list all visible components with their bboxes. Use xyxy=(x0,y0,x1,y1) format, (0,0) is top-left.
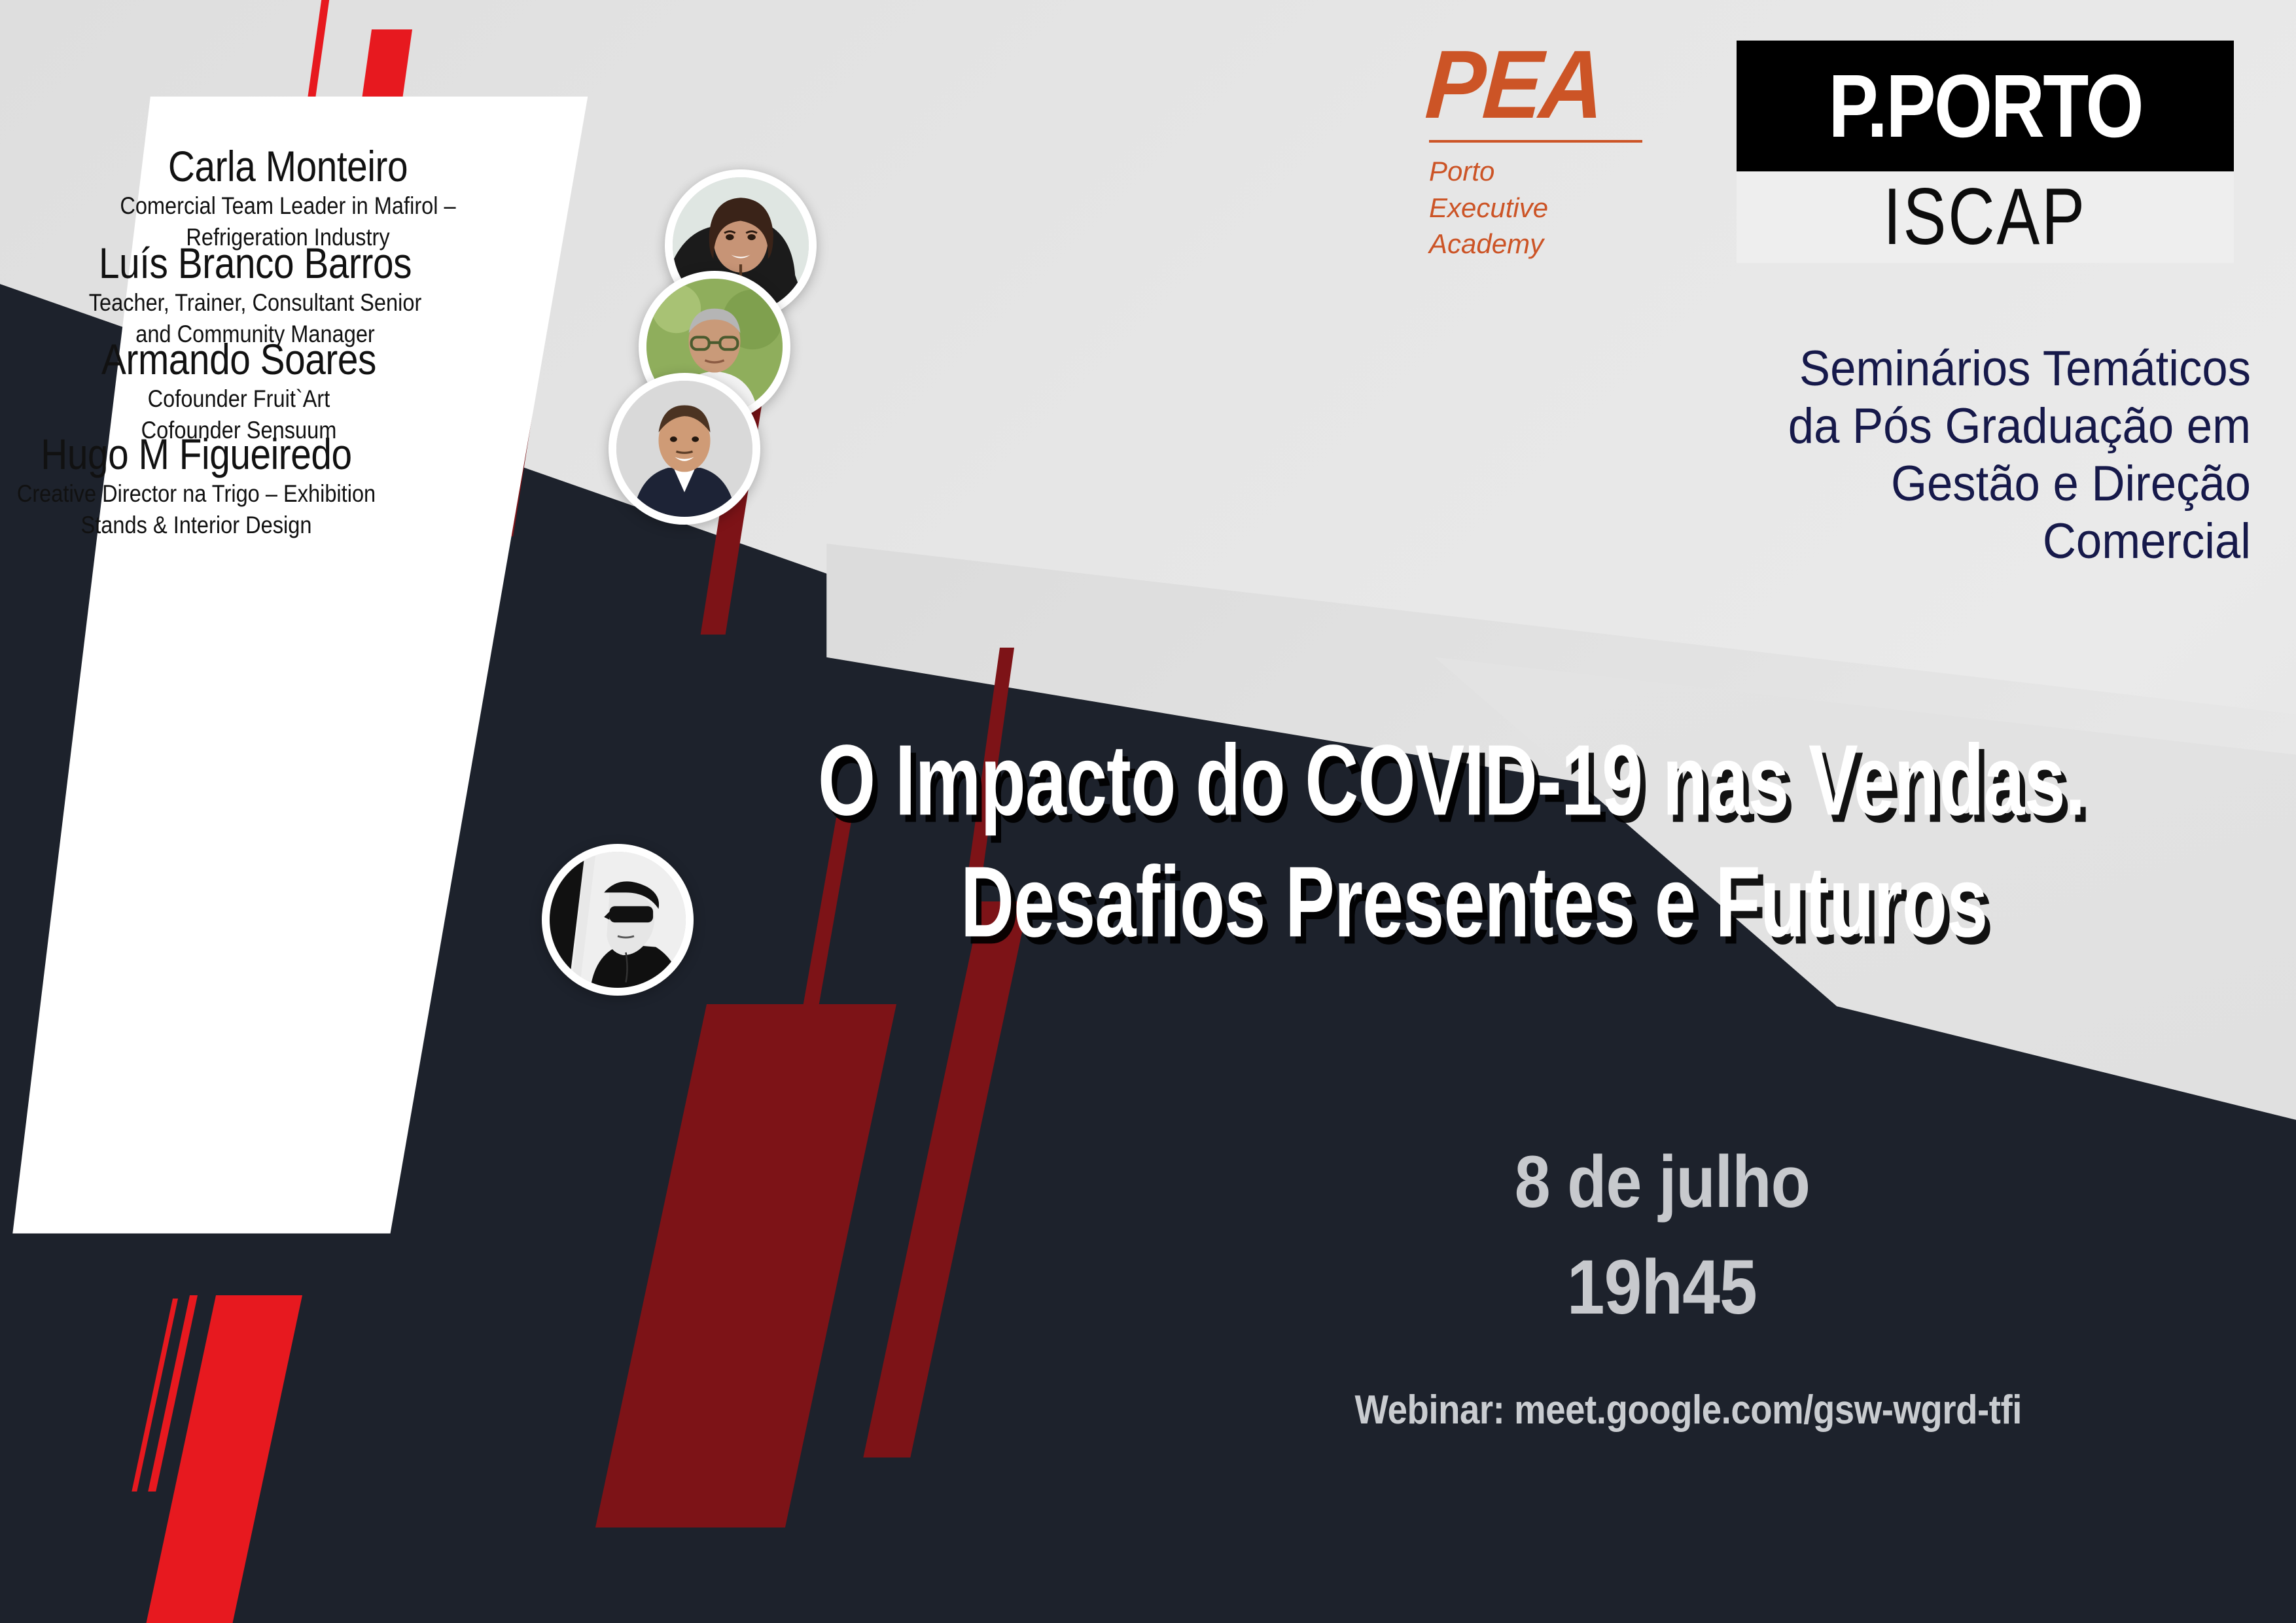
pea-acronym: PEA xyxy=(1423,41,1664,130)
speaker-role-line-1: Creative Director na Trigo – Exhibition xyxy=(12,480,380,508)
iscap-wordmark: ISCAP xyxy=(1884,171,2087,263)
speaker-role-line-2: Stands & Interior Design xyxy=(12,511,380,540)
pporto-iscap-logo: P.PORTO ISCAP xyxy=(1737,41,2234,263)
speaker-name: Carla Monteiro xyxy=(108,144,468,189)
event-time: 19h45 xyxy=(1309,1243,2015,1332)
event-date: 8 de julho xyxy=(1309,1140,2015,1224)
program-line-4: Comercial xyxy=(1636,513,2251,570)
speaker-entry: Carla Monteiro Comercial Team Leader in … xyxy=(79,144,497,252)
avatar xyxy=(542,844,694,996)
webinar-link-value[interactable]: Webinar: meet.google.com/gsw-wgrd-tfi xyxy=(1354,1387,2021,1433)
webinar-link[interactable]: Webinar: meet.google.com/gsw-wgrd-tfi xyxy=(1269,1387,2107,1433)
program-heading: Seminários Temáticos da Pós Graduação em… xyxy=(1590,340,2251,571)
poster-canvas: Carla Monteiro Comercial Team Leader in … xyxy=(0,0,2296,1623)
pea-subtitle-line-3: Academy xyxy=(1429,226,1684,262)
hugo-m-figueiredo-portrait-icon xyxy=(550,852,686,988)
program-line-2: da Pós Graduação em xyxy=(1636,398,2251,455)
title-line-2: Desafios Presentes e Futuros xyxy=(961,828,2199,977)
event-time-value: 19h45 xyxy=(1567,1243,1757,1332)
page-title: O Impacto do COVID-19 nas Vendas. Desafi… xyxy=(818,720,2296,964)
speaker-role-line-1: Cofounder Fruit`Art xyxy=(54,385,423,413)
speaker-entry: Armando Soares Cofounder Fruit`Art Cofou… xyxy=(29,337,448,445)
speaker-role-line-1: Comercial Team Leader in Mafirol – xyxy=(103,192,472,220)
program-line-3: Gestão e Direção xyxy=(1636,455,2251,513)
pea-subtitle-line-2: Executive xyxy=(1429,190,1684,226)
pporto-wordmark: P.PORTO xyxy=(1828,55,2142,158)
speaker-name: Armando Soares xyxy=(59,337,419,382)
pea-logo: PEA Porto Executive Academy xyxy=(1429,41,1684,262)
avatar xyxy=(609,373,760,525)
program-line-1: Seminários Temáticos xyxy=(1636,340,2251,398)
iscap-logo-bottom: ISCAP xyxy=(1737,171,2234,263)
speaker-role-line-1: Teacher, Trainer, Consultant Senior xyxy=(71,288,439,317)
armando-soares-portrait-icon xyxy=(616,381,752,517)
pporto-logo-top: P.PORTO xyxy=(1737,41,2234,171)
event-date-value: 8 de julho xyxy=(1514,1140,1809,1224)
pea-divider xyxy=(1429,140,1642,143)
speaker-entry: Luís Branco Barros Teacher, Trainer, Con… xyxy=(46,241,465,349)
speaker-name: Hugo M Figueiredo xyxy=(16,432,376,477)
speaker-name: Luís Branco Barros xyxy=(75,241,435,286)
pea-subtitle-line-1: Porto xyxy=(1429,153,1684,189)
speaker-entry: Hugo M Figueiredo Creative Director na T… xyxy=(0,432,406,540)
